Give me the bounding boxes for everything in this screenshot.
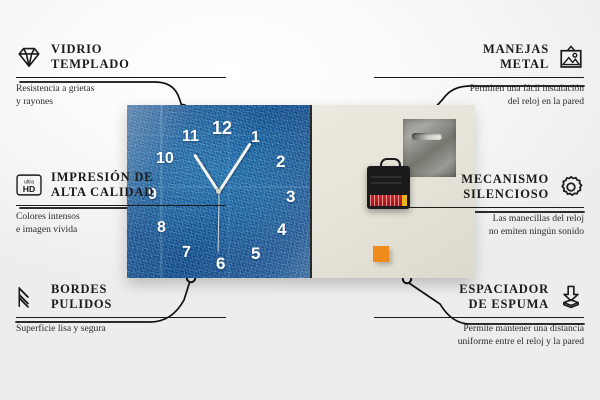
feature-desc: Resistencia a grietas bbox=[16, 83, 226, 96]
feature-desc: no emiten ningún sonido bbox=[374, 226, 584, 239]
feature-title: IMPRESIÓN DE bbox=[51, 170, 154, 185]
clock-numeral-11: 11 bbox=[182, 129, 199, 145]
feature-bordes-pulidos: BORDES PULIDOS Superficie lisa y segura bbox=[16, 282, 226, 336]
clock-numeral-2: 2 bbox=[276, 153, 285, 170]
clock-numeral-1: 1 bbox=[251, 130, 260, 146]
feature-title: ALTA CALIDAD bbox=[51, 185, 154, 200]
picture-frame-icon bbox=[558, 44, 584, 70]
movement-hanging-loop bbox=[380, 158, 401, 171]
feature-title: TEMPLADO bbox=[51, 57, 130, 72]
feature-title: MECANISMO bbox=[461, 172, 549, 187]
foam-spacer-icon bbox=[558, 284, 584, 310]
feature-desc: Las manecillas del reloj bbox=[374, 213, 584, 226]
clock-numeral-10: 10 bbox=[156, 151, 174, 167]
feature-desc: y rayones bbox=[16, 96, 226, 109]
feature-title: MANEJAS bbox=[483, 42, 549, 57]
foam-spacer bbox=[373, 246, 389, 262]
clock-numeral-4: 4 bbox=[277, 221, 286, 238]
polished-edges-icon bbox=[16, 284, 42, 310]
feature-mecanismo-silencioso: MECANISMO SILENCIOSO Las manecillas del … bbox=[374, 172, 584, 238]
feature-espaciador-espuma: ESPACIADOR DE ESPUMA Permite mantener un… bbox=[374, 282, 584, 348]
feature-impresion-alta-calidad: ultra HD IMPRESIÓN DE ALTA CALIDAD Color… bbox=[16, 170, 226, 236]
feature-desc: uniforme entre el reloj y la pared bbox=[374, 336, 584, 349]
diamond-icon bbox=[16, 44, 42, 70]
feature-desc: del reloj en la pared bbox=[374, 96, 584, 109]
feature-vidrio-templado: VIDRIO TEMPLADO Resistencia a grietas y … bbox=[16, 42, 226, 108]
divider bbox=[374, 317, 584, 319]
feature-desc: Colores intensos bbox=[16, 211, 226, 224]
feature-desc: e imagen vívida bbox=[16, 224, 226, 237]
feature-desc: Superficie lisa y segura bbox=[16, 323, 226, 336]
gear-icon bbox=[558, 174, 584, 200]
clock-numeral-12: 12 bbox=[212, 119, 232, 137]
feature-title: METAL bbox=[483, 57, 549, 72]
clock-numeral-3: 3 bbox=[286, 188, 295, 205]
feature-manejas-metal: MANEJAS METAL Permiten una fácil instala… bbox=[374, 42, 584, 108]
feature-desc: Permiten una fácil instalación bbox=[374, 83, 584, 96]
feature-title: BORDES bbox=[51, 282, 112, 297]
feature-title: SILENCIOSO bbox=[461, 187, 549, 202]
ultra-hd-icon: ultra HD bbox=[16, 172, 42, 198]
feature-title: DE ESPUMA bbox=[459, 297, 549, 312]
feature-title: PULIDOS bbox=[51, 297, 112, 312]
metal-hanger-plate bbox=[403, 119, 456, 177]
divider bbox=[374, 207, 584, 209]
clock-numeral-6: 6 bbox=[216, 255, 225, 272]
hanger-keyhole-slot bbox=[412, 133, 442, 140]
divider bbox=[16, 317, 226, 319]
clock-numeral-7: 7 bbox=[182, 245, 191, 261]
feature-title: ESPACIADOR bbox=[459, 282, 549, 297]
divider bbox=[16, 205, 226, 207]
divider bbox=[374, 77, 584, 79]
feature-desc: Permite mantener una distancia bbox=[374, 323, 584, 336]
divider bbox=[16, 77, 226, 79]
clock-numeral-5: 5 bbox=[251, 245, 260, 262]
infographic-canvas: 12 1 2 3 4 5 6 7 8 9 10 11 bbox=[0, 0, 600, 400]
svg-text:HD: HD bbox=[23, 184, 36, 194]
feature-title: VIDRIO bbox=[51, 42, 130, 57]
